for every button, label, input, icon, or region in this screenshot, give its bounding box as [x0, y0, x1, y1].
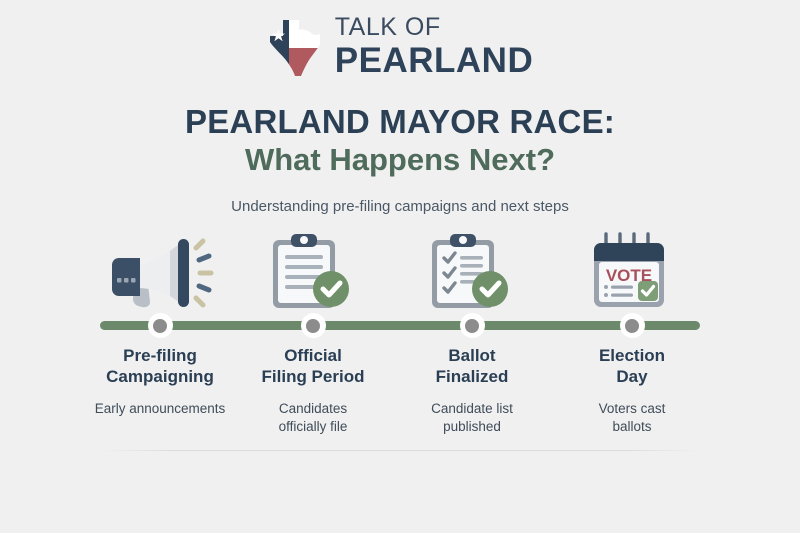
step-desc-2: Candidates officially file — [223, 400, 403, 436]
logo-line-one: TALK OF — [335, 15, 441, 40]
clipboard-check-icon — [269, 232, 357, 310]
checklist-clipboard-icon — [428, 232, 516, 310]
page-tagline: Understanding pre-filing campaigns and n… — [0, 198, 800, 215]
megaphone-icon — [104, 236, 216, 310]
timeline-node-3[interactable] — [460, 313, 485, 338]
step-icon-container-3 — [382, 232, 562, 310]
step-desc-3: Candidate list published — [382, 400, 562, 436]
timeline-node-1[interactable] — [148, 313, 173, 338]
footer-divider — [100, 450, 700, 451]
step-title-4: Election Day — [542, 345, 722, 388]
infographic-canvas: TALK OF PEARLAND PEARLAND MAYOR RACE: Wh… — [0, 0, 800, 533]
site-logo: TALK OF PEARLAND — [0, 14, 800, 78]
timeline-bar — [100, 321, 700, 330]
timeline-node-2[interactable] — [301, 313, 326, 338]
timeline-node-4[interactable] — [620, 313, 645, 338]
page-subtitle: What Happens Next? — [0, 142, 800, 178]
vote-calendar-icon: VOTE — [589, 232, 675, 310]
timeline-step-4: Election Day Voters cast ballots — [542, 345, 722, 436]
step-title-2: Official Filing Period — [223, 345, 403, 388]
logo-line-two: PEARLAND — [335, 43, 533, 78]
step-icon-container-4: VOTE — [542, 232, 722, 310]
texas-state-outline-icon — [267, 14, 323, 78]
timeline-step-2: Official Filing Period Candidates offici… — [223, 345, 403, 436]
step-icon-container-2 — [223, 232, 403, 310]
logo-wordmark: TALK OF PEARLAND — [335, 15, 533, 78]
step-title-3: Ballot Finalized — [382, 345, 562, 388]
page-title: PEARLAND MAYOR RACE: — [0, 103, 800, 141]
timeline-step-3: Ballot Finalized Candidate list publishe… — [382, 345, 562, 436]
step-desc-4: Voters cast ballots — [542, 400, 722, 436]
